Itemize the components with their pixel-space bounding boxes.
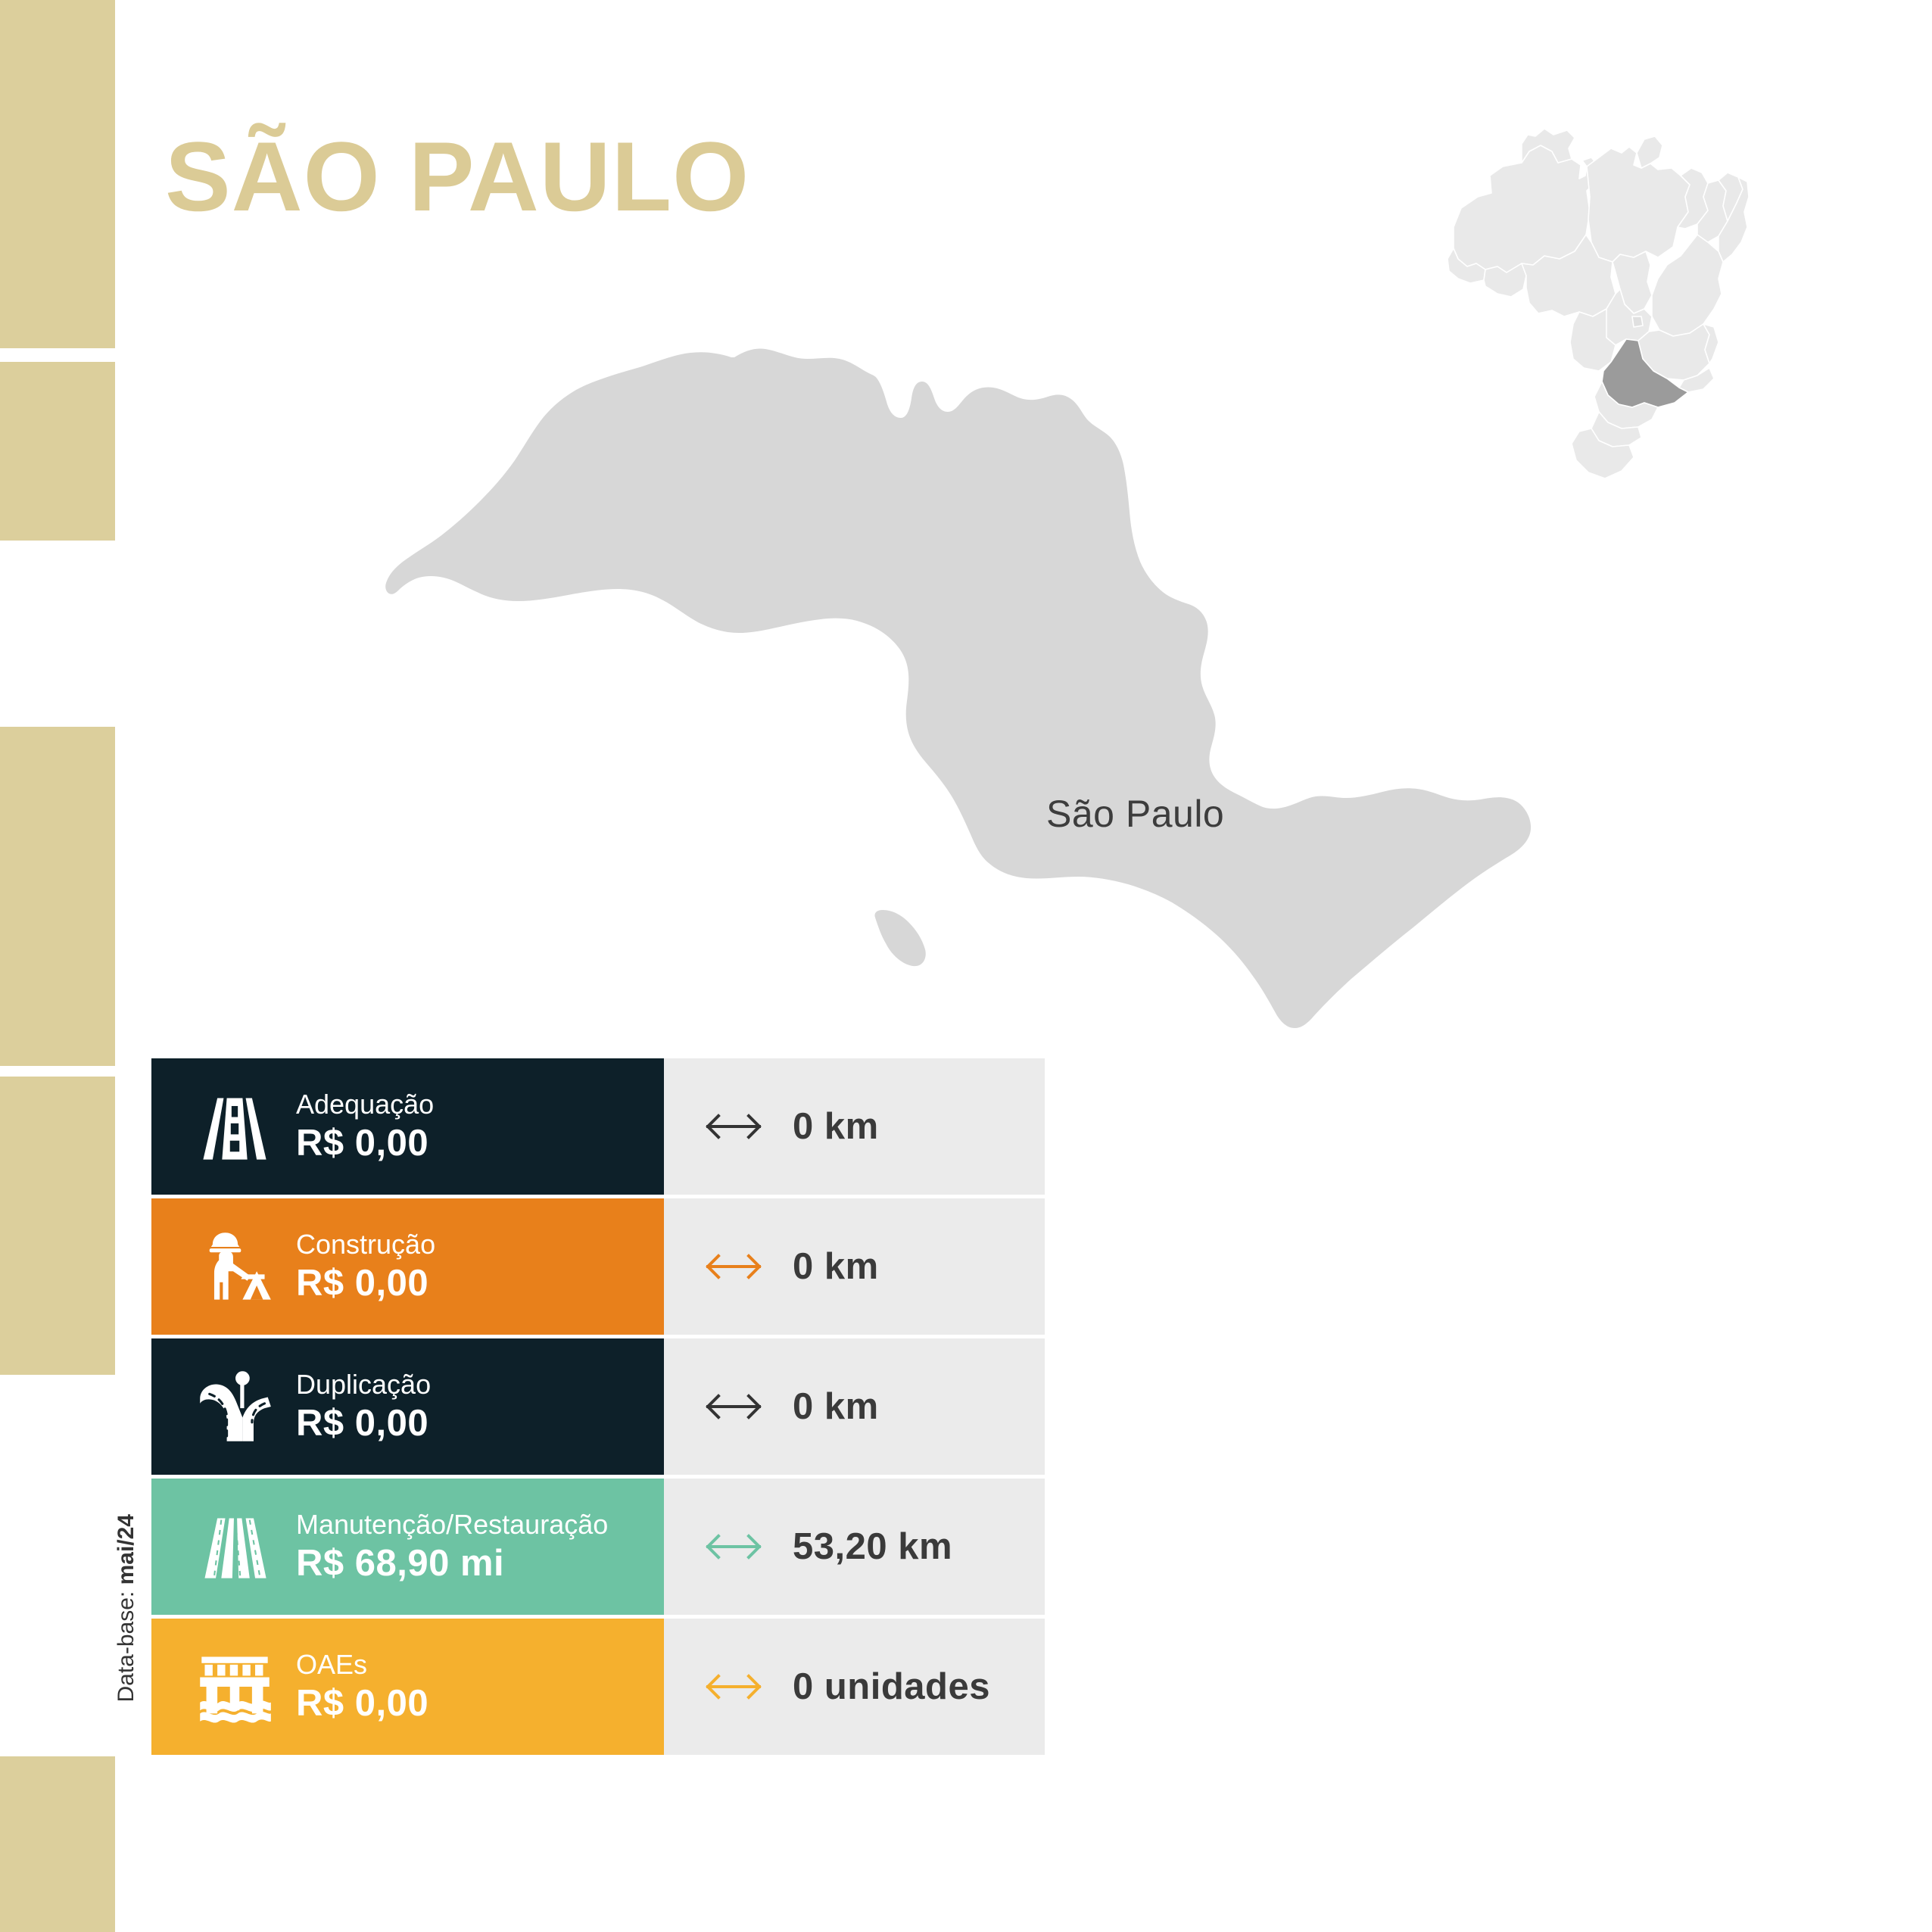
page-title: SÃO PAULO: [165, 127, 749, 226]
row-category: Manutenção/Restauração: [296, 1507, 608, 1541]
row-right-adequacao: 0 km: [664, 1058, 1045, 1195]
double-arrow-horizontal-icon: [703, 1249, 764, 1284]
bridge-water-icon: [193, 1645, 276, 1728]
table-row: Duplicação R$ 0,00 0 km: [151, 1338, 1045, 1475]
row-value: R$ 0,00: [296, 1261, 435, 1306]
construction-worker-icon: [193, 1225, 276, 1308]
row-right-manutencao: 53,20 km: [664, 1479, 1045, 1615]
row-left-oaes: OAEs R$ 0,00: [151, 1619, 664, 1755]
sidebar-bar-5: [0, 1756, 115, 1932]
row-left-duplicacao: Duplicação R$ 0,00: [151, 1338, 664, 1475]
row-metric: 0 km: [793, 1245, 879, 1288]
table-row: Manutenção/Restauração R$ 68,90 mi 53,20…: [151, 1479, 1045, 1615]
double-arrow-horizontal-icon: [703, 1669, 764, 1704]
table-row: OAEs R$ 0,00 0 unidades: [151, 1619, 1045, 1755]
row-text-construcao: Construção R$ 0,00: [296, 1227, 435, 1306]
state-map-label: São Paulo: [1046, 792, 1224, 836]
row-text-adequacao: Adequação R$ 0,00: [296, 1087, 434, 1166]
row-right-construcao: 0 km: [664, 1198, 1045, 1335]
row-right-oaes: 0 unidades: [664, 1619, 1045, 1755]
sidebar-bar-1: [0, 0, 115, 348]
row-category: Adequação: [296, 1087, 434, 1121]
data-base-caption: Data-base: mai/24: [114, 1514, 139, 1703]
table-row: Construção R$ 0,00 0 km: [151, 1198, 1045, 1335]
row-value: R$ 0,00: [296, 1401, 431, 1446]
double-arrow-horizontal-icon: [703, 1529, 764, 1564]
row-left-manutencao: Manutenção/Restauração R$ 68,90 mi: [151, 1479, 664, 1615]
row-category: OAEs: [296, 1647, 428, 1681]
sidebar-bar-2: [0, 362, 115, 541]
row-left-adequacao: Adequação R$ 0,00: [151, 1058, 664, 1195]
sidebar-bar-3: [0, 727, 115, 1066]
indicator-rows: Adequação R$ 0,00 0 km: [151, 1058, 1045, 1759]
sidebar-decorative-bars: [0, 0, 115, 1932]
data-base-value: mai/24: [114, 1514, 139, 1585]
sidebar-bar-4: [0, 1077, 115, 1375]
row-value: R$ 0,00: [296, 1681, 428, 1726]
row-text-manutencao: Manutenção/Restauração R$ 68,90 mi: [296, 1507, 608, 1586]
road-lanes-icon: [193, 1505, 276, 1588]
double-arrow-horizontal-icon: [703, 1389, 764, 1424]
row-metric: 0 km: [793, 1385, 879, 1428]
data-base-prefix: Data-base:: [114, 1585, 139, 1702]
row-metric: 0 unidades: [793, 1666, 990, 1708]
row-metric: 0 km: [793, 1105, 879, 1148]
row-text-oaes: OAEs R$ 0,00: [296, 1647, 428, 1726]
road-perspective-icon: [193, 1085, 276, 1168]
row-text-duplicacao: Duplicação R$ 0,00: [296, 1367, 431, 1446]
row-right-duplicacao: 0 km: [664, 1338, 1045, 1475]
row-left-construcao: Construção R$ 0,00: [151, 1198, 664, 1335]
road-fork-pin-icon: [193, 1365, 276, 1448]
row-value: R$ 68,90 mi: [296, 1541, 608, 1586]
row-category: Construção: [296, 1227, 435, 1261]
table-row: Adequação R$ 0,00 0 km: [151, 1058, 1045, 1195]
row-category: Duplicação: [296, 1367, 431, 1401]
row-metric: 53,20 km: [793, 1525, 952, 1568]
row-value: R$ 0,00: [296, 1121, 434, 1166]
double-arrow-horizontal-icon: [703, 1109, 764, 1144]
sao-paulo-state-map: [379, 303, 1590, 1030]
